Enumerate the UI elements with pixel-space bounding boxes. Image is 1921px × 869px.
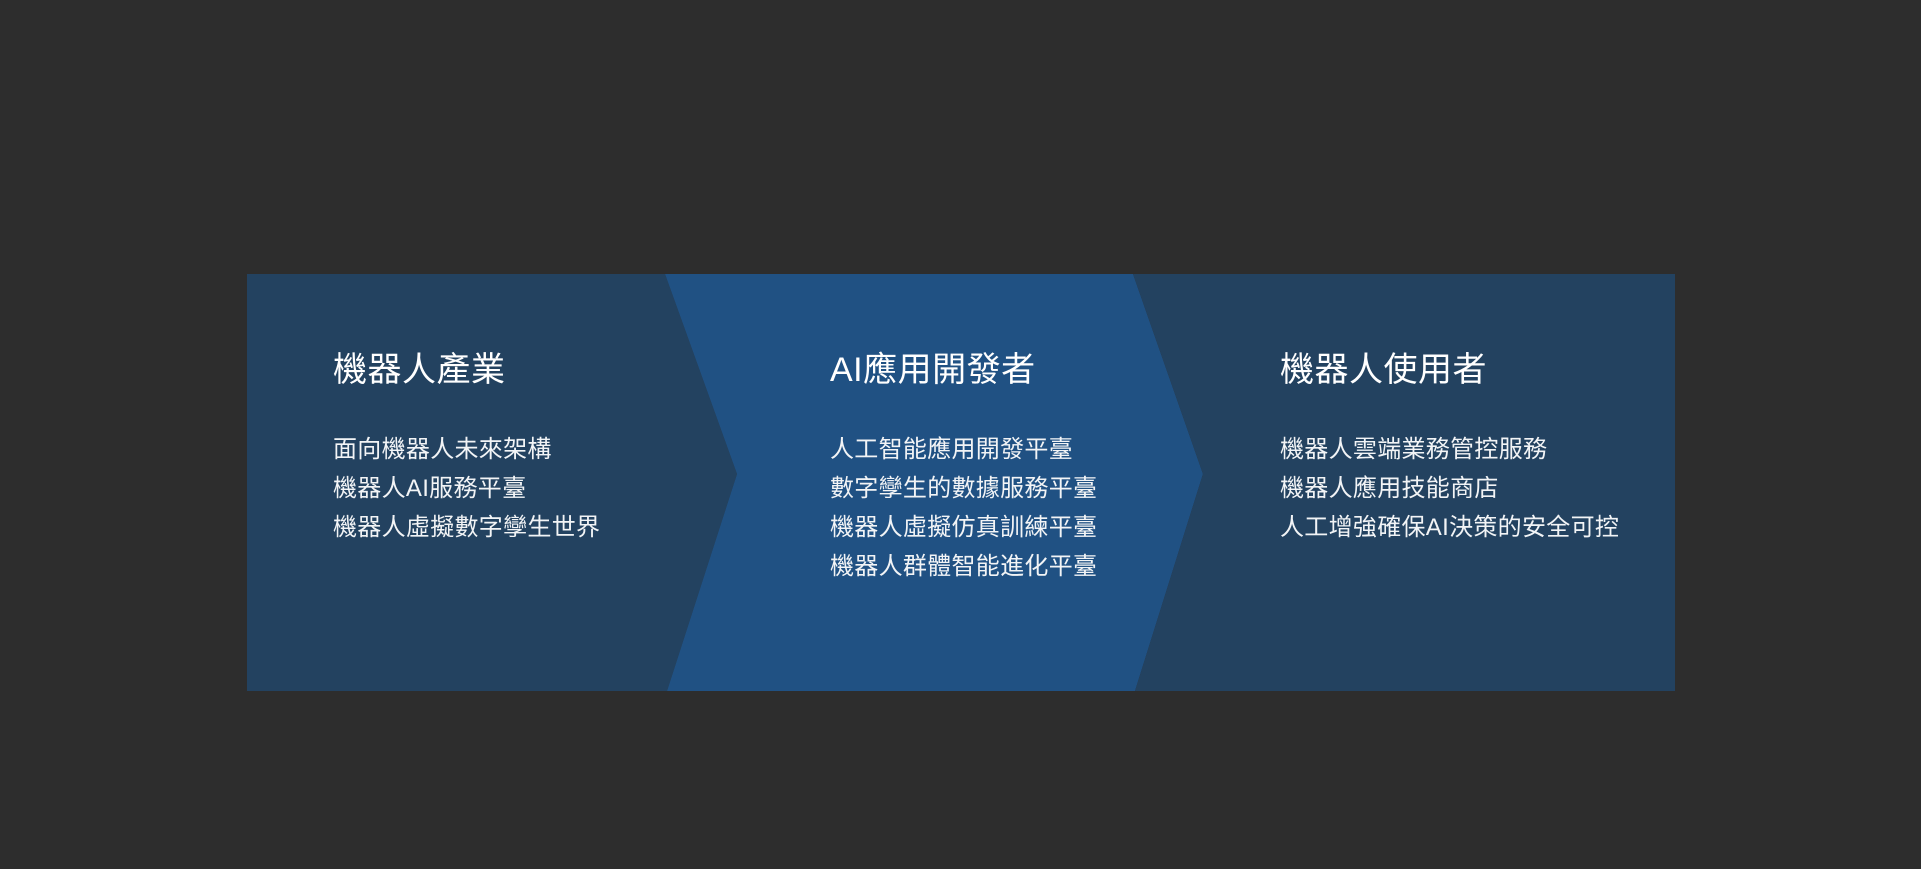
list-item: 機器人虛擬數字孿生世界 <box>333 508 600 547</box>
list-item: 機器人雲端業務管控服務 <box>1280 430 1619 469</box>
segments-banner: 機器人產業 面向機器人未來架構 機器人AI服務平臺 機器人虛擬數字孿生世界 AI… <box>247 274 1675 691</box>
segment-column-ai-application-developer: AI應用開發者 人工智能應用開發平臺 數字孿生的數據服務平臺 機器人虛擬仿真訓練… <box>830 274 1230 691</box>
list-item: 機器人群體智能進化平臺 <box>830 547 1097 586</box>
list-item: 面向機器人未來架構 <box>333 430 600 469</box>
segment-heading-robot-user: 機器人使用者 <box>1280 348 1487 392</box>
segment-heading-ai-application-developer: AI應用開發者 <box>830 348 1036 392</box>
segment-column-robot-user: 機器人使用者 機器人雲端業務管控服務 機器人應用技能商店 人工增強確保AI決策的… <box>1280 274 1675 691</box>
segment-column-robot-industry: 機器人產業 面向機器人未來架構 機器人AI服務平臺 機器人虛擬數字孿生世界 <box>333 274 733 691</box>
list-item: 機器人虛擬仿真訓練平臺 <box>830 508 1097 547</box>
segment-list-ai-application-developer: 人工智能應用開發平臺 數字孿生的數據服務平臺 機器人虛擬仿真訓練平臺 機器人群體… <box>830 430 1097 586</box>
list-item: 機器人AI服務平臺 <box>333 469 600 508</box>
list-item: 人工增強確保AI決策的安全可控 <box>1280 508 1619 547</box>
list-item: 人工智能應用開發平臺 <box>830 430 1097 469</box>
list-item: 數字孿生的數據服務平臺 <box>830 469 1097 508</box>
segment-list-robot-user: 機器人雲端業務管控服務 機器人應用技能商店 人工增強確保AI決策的安全可控 <box>1280 430 1619 547</box>
segment-heading-robot-industry: 機器人產業 <box>333 348 506 392</box>
list-item: 機器人應用技能商店 <box>1280 469 1619 508</box>
segment-list-robot-industry: 面向機器人未來架構 機器人AI服務平臺 機器人虛擬數字孿生世界 <box>333 430 600 547</box>
